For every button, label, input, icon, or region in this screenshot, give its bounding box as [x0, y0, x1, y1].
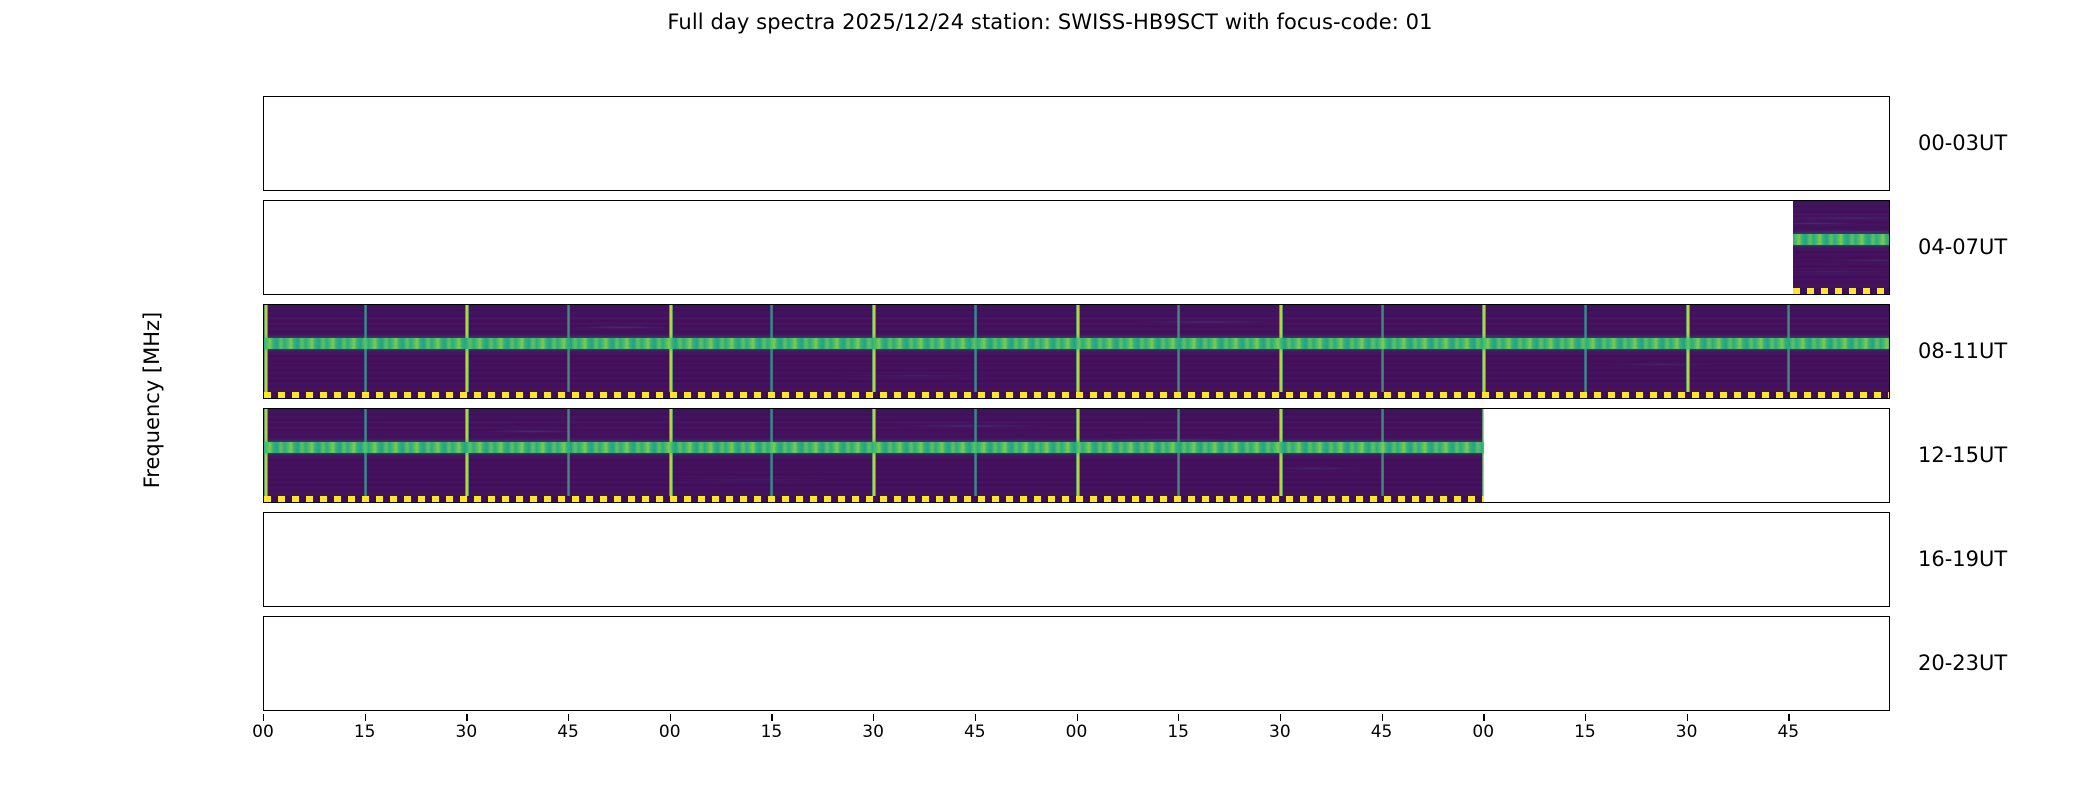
calibration-stripe [1686, 305, 1690, 398]
y-tick-mark [263, 357, 264, 358]
y-tick-mark [1889, 530, 1890, 531]
calibration-stripe [1381, 409, 1384, 502]
calibration-stripe [364, 305, 367, 398]
panel-00-03ut [263, 96, 1890, 191]
y-tick-mark [1889, 461, 1890, 462]
calibration-stripe [1381, 305, 1384, 398]
x-tick-label: 00 [1463, 724, 1503, 741]
y-tick-mark [263, 253, 264, 254]
panel-stack: 1600140012001600140012001600140012001600… [263, 96, 1890, 714]
calibration-stripe [567, 305, 570, 398]
x-tick-label: 15 [345, 724, 385, 741]
spectrogram-data-12-15ut [264, 409, 1484, 502]
y-tick-mark [1889, 287, 1890, 288]
y-tick-mark [263, 669, 264, 670]
row-label-12-15ut: 12-15UT [1918, 445, 2007, 466]
row-label-16-19ut: 16-19UT [1918, 549, 2007, 570]
bottom-marker-dashes [264, 496, 1484, 502]
x-tick-mark [466, 714, 467, 721]
calibration-stripe [567, 409, 570, 502]
y-tick-mark [263, 114, 264, 115]
panel-08-11ut [263, 304, 1890, 399]
y-tick-mark [1889, 599, 1890, 600]
calibration-stripe [974, 305, 977, 398]
y-tick-mark [1889, 703, 1890, 704]
row-label-04-07ut: 04-07UT [1918, 237, 2007, 258]
y-axis-label: Frequency [MHz] [140, 312, 164, 488]
x-tick-label: 00 [1057, 724, 1097, 741]
calibration-stripe [264, 409, 268, 502]
calibration-stripe [1482, 409, 1484, 502]
emission-band-1480mhz [264, 338, 1890, 349]
x-tick-mark [1788, 714, 1789, 721]
x-tick-mark [365, 714, 366, 721]
calibration-stripe [770, 305, 773, 398]
x-tick-mark [1483, 714, 1484, 721]
calibration-stripe [364, 409, 367, 502]
y-tick-mark [1889, 183, 1890, 184]
spectrogram-data-04-07ut [1793, 201, 1890, 294]
x-tick-label: 15 [1565, 724, 1605, 741]
x-tick-label: 30 [446, 724, 486, 741]
panel-16-19ut [263, 512, 1890, 607]
calibration-stripe [465, 305, 469, 398]
calibration-stripe [1584, 305, 1587, 398]
y-tick-mark [263, 634, 264, 635]
calibration-stripe [770, 409, 773, 502]
x-tick-mark [1382, 714, 1383, 721]
x-tick-label: 45 [548, 724, 588, 741]
calibration-stripe [1787, 305, 1790, 398]
calibration-stripe [872, 305, 876, 398]
calibration-stripe [1889, 201, 1890, 294]
calibration-stripe [872, 409, 876, 502]
calibration-stripe [1279, 409, 1283, 502]
y-tick-mark [263, 391, 264, 392]
x-tick-label: 15 [1158, 724, 1198, 741]
panel-04-07ut [263, 200, 1890, 295]
y-tick-mark [263, 149, 264, 150]
x-tick-mark [1585, 714, 1586, 721]
x-tick-label: 45 [1362, 724, 1402, 741]
panel-12-15ut [263, 408, 1890, 503]
calibration-stripe [1177, 305, 1180, 398]
x-tick-label: 00 [650, 724, 690, 741]
y-tick-mark [1889, 114, 1890, 115]
y-tick-mark [263, 703, 264, 704]
spectrogram-data-08-11ut [264, 305, 1890, 398]
spectrogram-figure: Full day spectra 2025/12/24 station: SWI… [0, 0, 2100, 800]
x-tick-label: 30 [853, 724, 893, 741]
x-tick-label: 00 [243, 724, 283, 741]
calibration-stripe [1076, 409, 1080, 502]
calibration-stripe [669, 305, 673, 398]
y-tick-mark [263, 183, 264, 184]
x-tick-label: 30 [1667, 724, 1707, 741]
emission-band-1480mhz [264, 442, 1484, 453]
calibration-stripe [1889, 305, 1890, 398]
emission-band-1480mhz [1793, 234, 1890, 245]
x-tick-mark [568, 714, 569, 721]
panel-20-23ut [263, 616, 1890, 711]
y-tick-mark [263, 426, 264, 427]
calibration-stripe [1482, 305, 1486, 398]
y-tick-mark [1889, 426, 1890, 427]
x-tick-mark [263, 714, 264, 721]
y-tick-mark [1889, 218, 1890, 219]
y-tick-mark [263, 218, 264, 219]
y-tick-mark [1889, 391, 1890, 392]
spectrogram-interference-blobs [1793, 201, 1890, 294]
x-tick-mark [873, 714, 874, 721]
calibration-stripe [974, 409, 977, 502]
x-axis: 00153045001530450015304500153045 [263, 714, 1890, 754]
calibration-stripe [465, 409, 469, 502]
y-tick-mark [263, 461, 264, 462]
calibration-stripe [1177, 409, 1180, 502]
y-tick-mark [263, 287, 264, 288]
x-tick-mark [1280, 714, 1281, 721]
y-tick-mark [263, 565, 264, 566]
row-label-20-23ut: 20-23UT [1918, 653, 2007, 674]
x-tick-mark [1178, 714, 1179, 721]
x-tick-mark [1077, 714, 1078, 721]
y-tick-mark [1889, 322, 1890, 323]
y-tick-mark [263, 530, 264, 531]
y-tick-mark [1889, 565, 1890, 566]
calibration-stripe [1279, 305, 1283, 398]
row-label-08-11ut: 08-11UT [1918, 341, 2007, 362]
calibration-stripe [1076, 305, 1080, 398]
row-label-00-03ut: 00-03UT [1918, 133, 2007, 154]
y-tick-mark [263, 495, 264, 496]
x-tick-mark [975, 714, 976, 721]
y-tick-mark [1889, 253, 1890, 254]
x-tick-label: 15 [751, 724, 791, 741]
x-tick-label: 45 [955, 724, 995, 741]
page-title: Full day spectra 2025/12/24 station: SWI… [0, 10, 2100, 34]
y-tick-mark [1889, 669, 1890, 670]
calibration-stripe [264, 305, 268, 398]
bottom-marker-dashes [1793, 288, 1890, 294]
bottom-marker-dashes [264, 392, 1890, 398]
x-tick-label: 30 [1260, 724, 1300, 741]
y-tick-mark [1889, 357, 1890, 358]
y-tick-mark [1889, 149, 1890, 150]
x-tick-label: 45 [1768, 724, 1808, 741]
calibration-stripe [669, 409, 673, 502]
x-tick-mark [1687, 714, 1688, 721]
y-tick-mark [1889, 495, 1890, 496]
y-tick-mark [263, 322, 264, 323]
y-tick-mark [263, 599, 264, 600]
x-tick-mark [670, 714, 671, 721]
x-tick-mark [771, 714, 772, 721]
y-tick-mark [1889, 634, 1890, 635]
